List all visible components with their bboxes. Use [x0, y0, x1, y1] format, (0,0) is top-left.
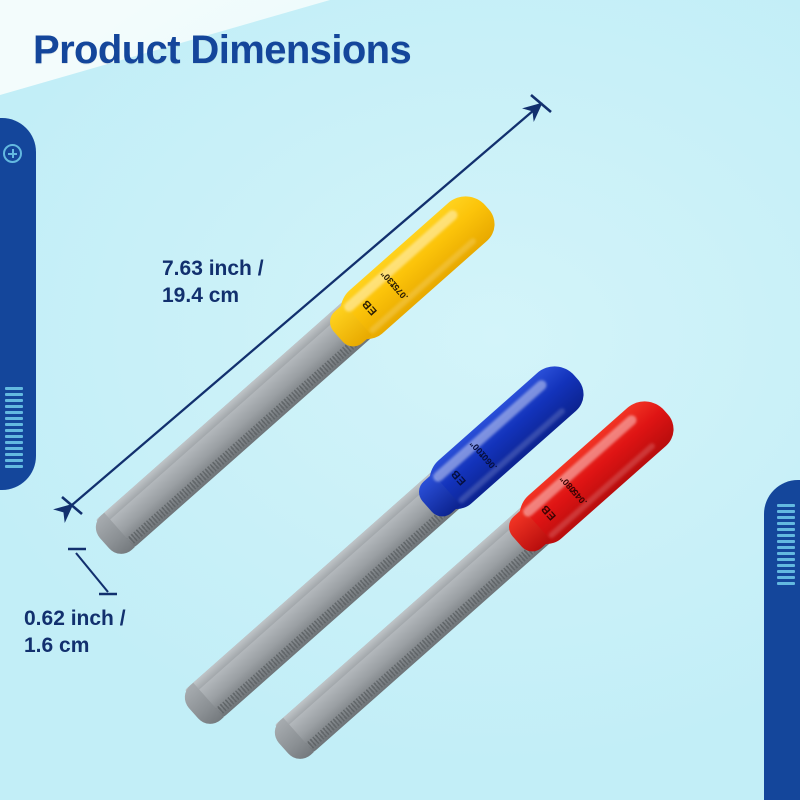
- ladder-ticks-icon: [777, 504, 795, 585]
- length-line-1: 7.63 inch /: [162, 255, 264, 282]
- plus-circle-icon: [3, 144, 22, 163]
- width-dimension-label: 0.62 inch / 1.6 cm: [24, 605, 126, 659]
- width-line-2: 1.6 cm: [24, 632, 126, 659]
- left-frame-decoration: [0, 118, 36, 490]
- background-panel: [0, 0, 800, 800]
- ladder-ticks-icon: [5, 387, 23, 468]
- product-dimensions-image: Product Dimensions EB .130" .075" EB .10…: [0, 0, 800, 800]
- length-line-2: 19.4 cm: [162, 282, 264, 309]
- right-frame-decoration: [764, 480, 800, 800]
- length-dimension-label: 7.63 inch / 19.4 cm: [162, 255, 264, 309]
- page-title: Product Dimensions: [33, 28, 411, 73]
- width-line-1: 0.62 inch /: [24, 605, 126, 632]
